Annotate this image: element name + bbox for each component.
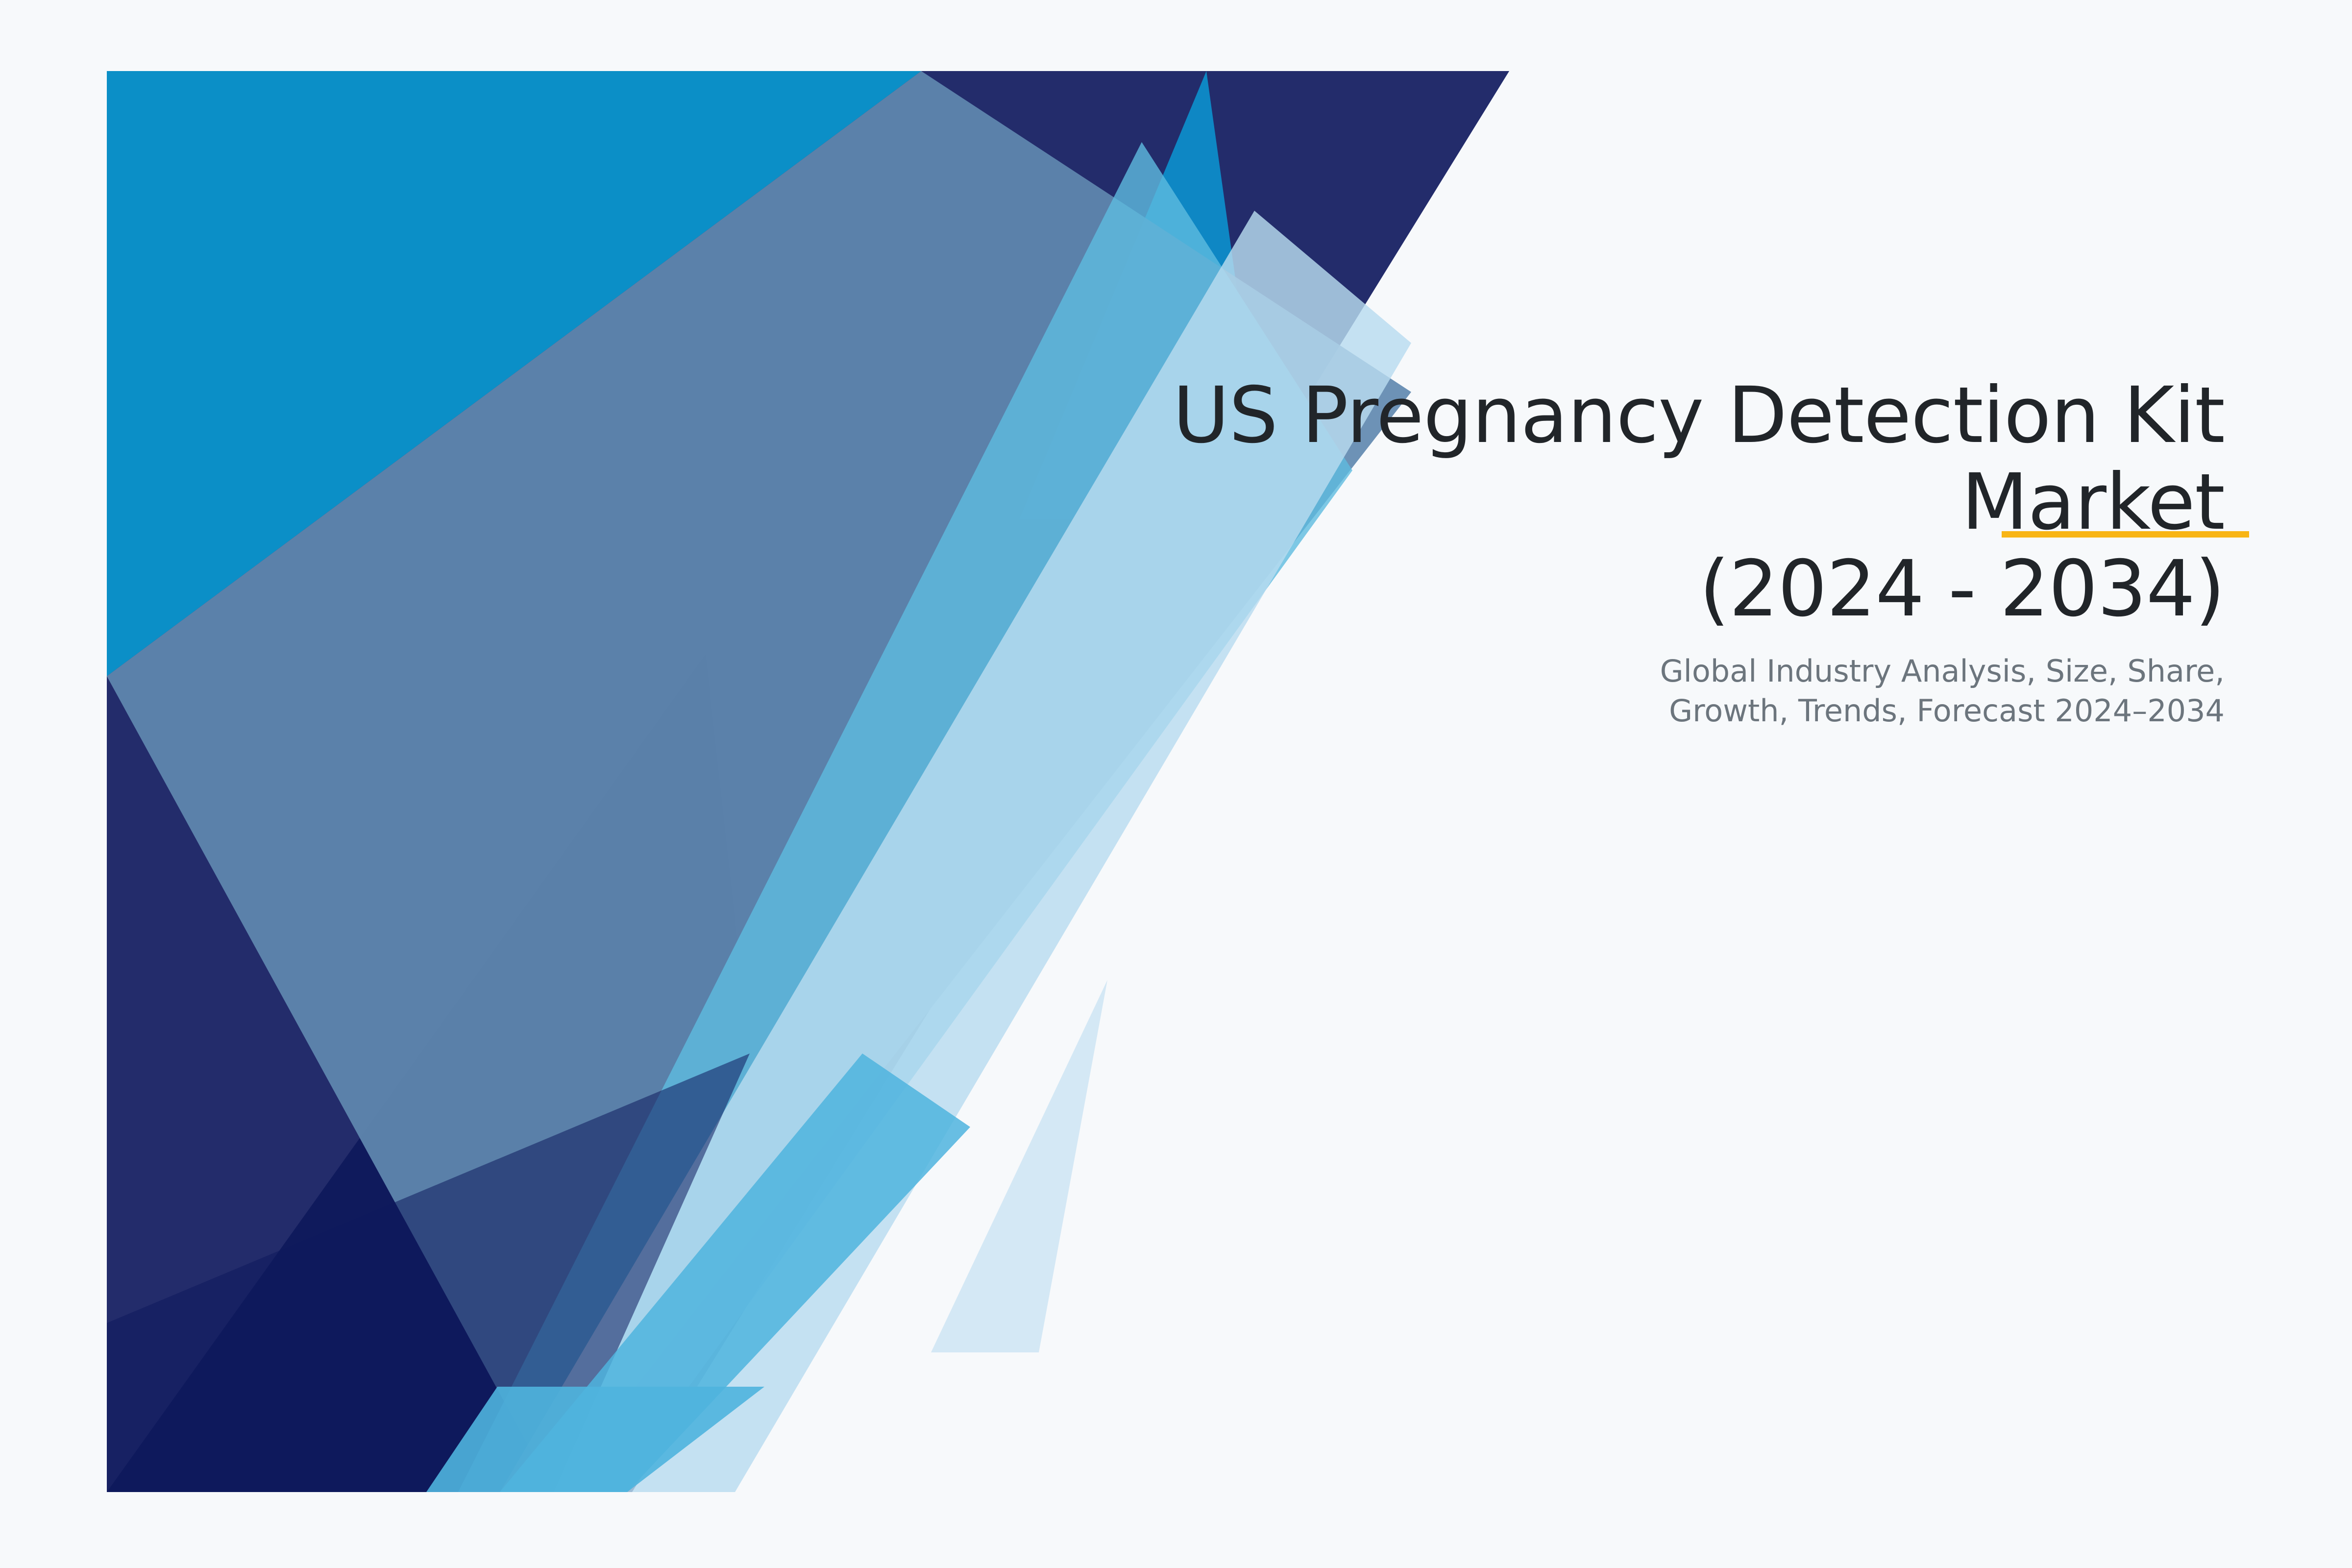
shape-sky-ribbon [458, 142, 1352, 1492]
shape-steel-quad [107, 71, 1411, 1492]
shape-cyan-field [107, 71, 1509, 1492]
shape-light-cyan-edge [500, 1053, 970, 1492]
page-subtitle: Global Industry Analysis, Size, Share, G… [931, 652, 2225, 731]
page-title: US Pregnancy Detection Kit Market (2024 … [931, 372, 2225, 633]
shape-deep-navy-band [107, 654, 750, 1492]
shape-navy-wedge [107, 71, 1509, 1492]
abstract-geometric-artwork [0, 0, 2352, 1568]
shape-pale-sliver [931, 980, 1107, 1352]
shape-bottom-light-band [426, 1387, 764, 1492]
shape-navy-lower-block [107, 1053, 750, 1492]
cover-text-block: US Pregnancy Detection Kit Market (2024 … [931, 372, 2225, 633]
report-cover-page: US Pregnancy Detection Kit Market (2024 … [0, 0, 2352, 1568]
